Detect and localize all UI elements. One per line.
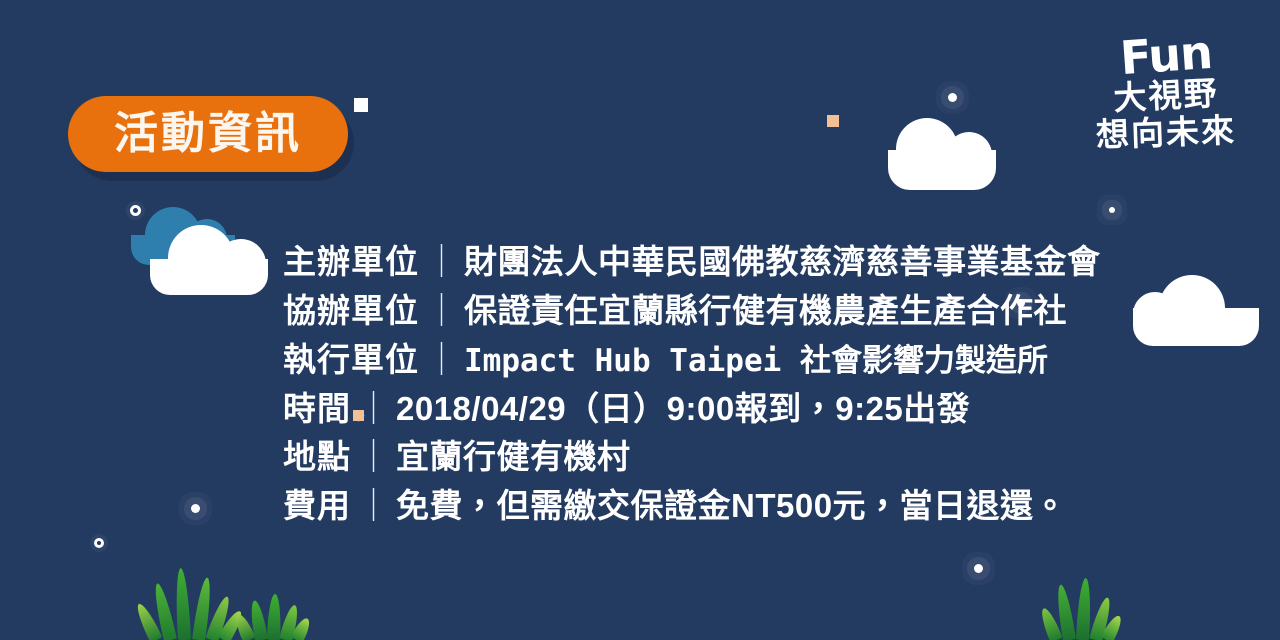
ring-left-cloud-icon [130,205,141,216]
info-row-coorganizer: 協辦單位 ｜ 保證責任宜蘭縣行健有機農產生產合作社 [283,287,1083,336]
info-label: 主辦單位 [283,238,419,287]
section-badge: 活動資訊 [68,96,348,172]
sparkle-orange-top-icon [827,115,839,127]
dot-logo-left-icon [1109,207,1115,213]
info-value: 免費，但需繳交保證金NT500元，當日退還。 [396,482,1067,531]
cloud-right-edge-icon [1133,308,1259,346]
info-row-executor: 執行單位 ｜ Impact Hub Taipei 社會影響力製造所 [283,336,1083,385]
info-row-time: 時間 ｜ 2018/04/29（日）9:00報到，9:25出發 [283,385,1083,434]
info-value: 財團法人中華民國佛教慈濟慈善事業基金會 [464,238,1101,287]
dot-top-right-icon [948,93,957,102]
info-label: 協辦單位 [283,287,419,336]
info-label: 地點 [283,433,351,482]
logo-line-1-text: 大視野 [1085,74,1247,118]
info-separator: ｜ [351,482,396,531]
section-badge-label: 活動資訊 [114,112,302,156]
dot-bottom-right-icon [974,564,983,573]
cloud-left-front-icon [150,259,268,295]
info-value: Impact Hub Taipei 社會影響力製造所 [464,339,1048,385]
info-separator: ｜ [419,238,464,287]
cloud-top-right-icon [888,150,996,190]
info-separator: ｜ [419,336,464,385]
info-separator: ｜ [351,385,396,434]
ring-lower-left-icon [94,538,104,548]
info-value: 保證責任宜蘭縣行健有機農產生產合作社 [464,287,1067,336]
dot-lower-left-icon [191,504,200,513]
info-row-location: 地點 ｜ 宜蘭行健有機村 [283,433,1083,482]
campaign-logo: Fun 大視野 想向未來 [1086,34,1246,151]
info-separator: ｜ [419,287,464,336]
sparkle-badge-right-icon [354,98,368,112]
cloud-left-back-teal-icon [131,235,235,265]
info-row-fee: 費用 ｜ 免費，但需繳交保證金NT500元，當日退還。 [283,482,1083,531]
logo-line-2-text: 想向未來 [1085,113,1246,154]
info-label: 費用 [283,482,351,531]
info-separator: ｜ [351,433,396,482]
info-label: 時間 [283,385,351,434]
info-row-organizer: 主辦單位 ｜ 財團法人中華民國佛教慈濟慈善事業基金會 [283,238,1083,287]
event-info-list: 主辦單位 ｜ 財團法人中華民國佛教慈濟慈善事業基金會 協辦單位 ｜ 保證責任宜蘭… [283,238,1083,531]
info-value: 宜蘭行健有機村 [396,433,631,482]
info-label: 執行單位 [283,336,419,385]
info-value: 2018/04/29（日）9:00報到，9:25出發 [396,385,970,434]
event-info-poster: 活動資訊 Fun 大視野 想向未來 主辦單位 ｜ 財團法人中華民國佛教慈濟慈善事… [0,0,1280,640]
